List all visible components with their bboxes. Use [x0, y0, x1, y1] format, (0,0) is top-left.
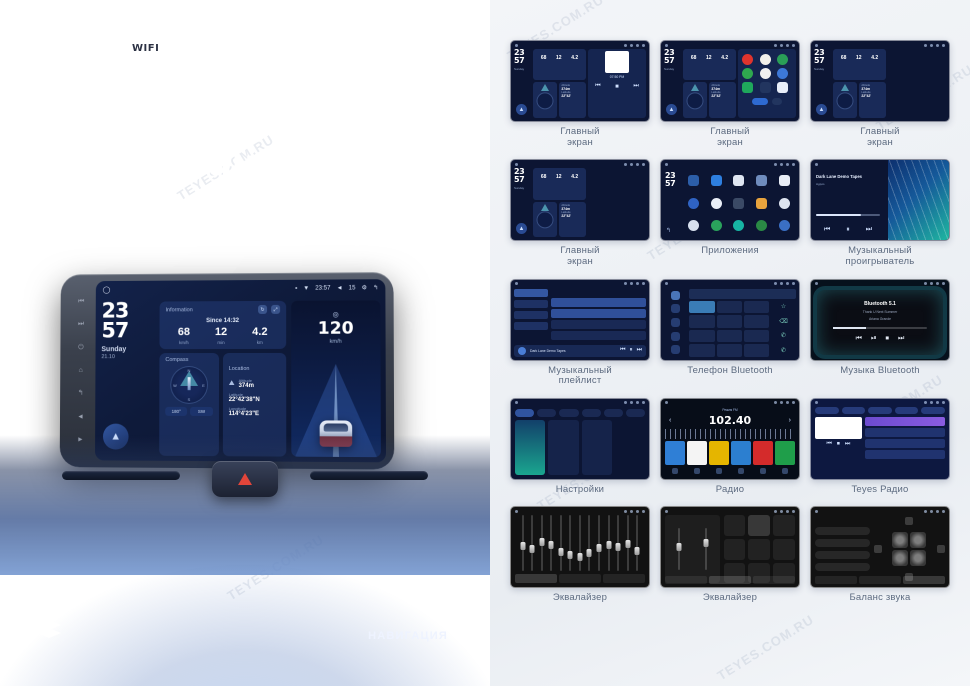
play-pause-icon[interactable]: ⏯: [871, 335, 877, 343]
headline: 2024 Презентация Нового Продукта!: [40, 88, 410, 227]
home-icon[interactable]: ⌂: [79, 367, 83, 374]
app-icon-all-apps: [777, 82, 788, 93]
prev-icon[interactable]: ⏮: [620, 347, 625, 354]
nav-shortcut-icon: ▲: [516, 104, 527, 115]
thumbnail-teyes-radio[interactable]: ⏮ ⏹ ⏭: [810, 398, 950, 480]
tab-reset[interactable]: [603, 574, 645, 583]
prev-icon[interactable]: ⏮: [826, 441, 831, 448]
app-icon-gallery: [779, 198, 790, 209]
gallery-caption: Эквалайзер: [703, 593, 757, 604]
tab-eq[interactable]: [515, 574, 557, 583]
app-icon-calculator: [756, 175, 767, 186]
bt-artist: Ariana Grande: [869, 317, 891, 321]
thumbnail-playlist[interactable]: Dark Lane Demo Tapes ⏮ ⏸ ⏭: [510, 279, 650, 361]
prev-icon[interactable]: ⏮: [824, 226, 830, 234]
gallery-item[interactable]: Эквалайзер: [660, 506, 800, 604]
compass-title: Compass: [165, 357, 212, 363]
dialpad-keys[interactable]: ☆ ⌫ ✆ ✆: [689, 301, 796, 357]
app-icon-maps: [777, 54, 788, 65]
gallery-item[interactable]: Dark Lane Demo Tapes Аудио ⏮ ⏸ ⏭ Музыкал…: [810, 159, 950, 267]
tab-eq[interactable]: [815, 576, 857, 584]
next-icon[interactable]: ⏭: [898, 335, 904, 343]
compass-n: N: [188, 368, 191, 373]
app-icon-avn: [688, 175, 699, 186]
station-list[interactable]: [865, 417, 945, 475]
eq-preset-buttons[interactable]: [724, 515, 795, 583]
brand-name: CC3L: [42, 34, 118, 63]
compass-dial: N E S W: [170, 366, 208, 404]
gallery-caption: Главный экран: [560, 246, 599, 267]
gallery-item[interactable]: Dark Lane Demo Tapes ⏮ ⏸ ⏭ Музыкальный п…: [510, 279, 650, 387]
thumbnail-bt-music[interactable]: Bluetooth 5.1 Thank U Next Summer Ariana…: [810, 279, 950, 361]
stat-value: 68: [178, 327, 190, 338]
layers-icon: [36, 619, 62, 644]
balance-right-button[interactable]: [937, 545, 945, 553]
gallery-item[interactable]: Режим FM ‹ 102.40 ›: [660, 398, 800, 496]
thumbnail-bt-phone[interactable]: ☆ ⌫ ✆ ✆: [660, 279, 800, 361]
bass-treble-faders[interactable]: [665, 515, 720, 583]
gallery-caption: Приложения: [701, 246, 759, 257]
hardware-buttons[interactable]: ⏮ ⏭ ⏻ ⌂ ↰ ◄ ►: [70, 290, 92, 451]
app-icon-maps: [711, 220, 722, 231]
stat-unit: km: [252, 340, 267, 345]
information-card[interactable]: Information ↻ ⤢ Since 14:32 68: [159, 301, 286, 349]
stat-value: 12: [215, 327, 227, 338]
preset-stations[interactable]: [665, 441, 795, 465]
back-arrow-icon[interactable]: ↰: [373, 284, 378, 291]
thumbnail-radio[interactable]: Режим FM ‹ 102.40 ›: [660, 398, 800, 480]
signal-icon: ▪: [295, 285, 297, 291]
progress-bar[interactable]: [833, 327, 926, 329]
watermark: TEYES.COM.RU: [714, 612, 816, 684]
tab-dsp[interactable]: [709, 576, 751, 584]
thumbnail-equalizer-presets[interactable]: [660, 506, 800, 588]
dialpad-icon[interactable]: [671, 291, 680, 300]
compass-direction: SW: [190, 407, 212, 416]
navigation-label: НАВИГАЦИЯ: [368, 630, 448, 642]
gallery-item[interactable]: Bluetooth 5.1 Thank U Next Summer Ariana…: [810, 279, 950, 387]
prev-track-icon[interactable]: ⏮: [78, 298, 84, 305]
clock-widget: 23 57 Sunday 21.10 ▲: [101, 302, 155, 456]
gallery-caption: Баланс звука: [850, 593, 911, 604]
pause-icon[interactable]: ⏸: [630, 347, 633, 354]
brand-badge-wifi: WIFI: [125, 41, 166, 56]
volume-down-icon[interactable]: ◄: [77, 413, 84, 420]
gallery-item[interactable]: Баланс звука: [810, 506, 950, 604]
tab-about[interactable]: [626, 409, 645, 417]
back-icon[interactable]: ↰: [666, 227, 671, 234]
tab-eq[interactable]: [665, 576, 707, 584]
gallery-caption: Настройки: [556, 485, 604, 496]
gallery-item[interactable]: 2357Sunday▲ 68124.2 Altitude374mLatitude…: [510, 159, 650, 267]
next-icon[interactable]: ⏭: [866, 226, 872, 234]
longitude-value: 114°4'23"E: [229, 411, 281, 417]
clock-day: Sunday: [101, 346, 154, 353]
prev-icon[interactable]: ⏮: [856, 335, 862, 343]
radio-band: Режим FM: [665, 408, 795, 412]
altitude-value: 374m: [239, 383, 254, 389]
thumbnail-settings[interactable]: [510, 398, 650, 480]
thumbnail-home-road-red[interactable]: 2357Sunday▲ 68124.2 Altitude374mLatitude…: [810, 40, 950, 122]
search-icon[interactable]: [671, 318, 680, 327]
compass-heading: 180°: [165, 407, 187, 416]
gallery-caption: Эквалайзер: [553, 593, 607, 604]
clock-date: 21.10: [101, 354, 154, 360]
compass-s: S: [188, 397, 191, 402]
tab-sound[interactable]: [537, 409, 556, 417]
balance-left-button[interactable]: [874, 545, 882, 553]
tab-balance[interactable]: [903, 576, 945, 584]
information-since: Since 14:32: [165, 318, 280, 324]
headline-year: 2024: [40, 88, 410, 143]
gallery-item[interactable]: ⏮ ⏹ ⏭ Teyes Радио: [810, 398, 950, 496]
thumbnail-music-player[interactable]: Dark Lane Demo Tapes Аудио ⏮ ⏸ ⏭: [810, 159, 950, 241]
wifi-card[interactable]: [515, 420, 545, 475]
headline-line2: Нового Продукта!: [40, 185, 410, 227]
app-icon-youtube: [742, 54, 753, 65]
stop-icon[interactable]: ⏹: [886, 335, 890, 343]
thumbnail-home-apps[interactable]: 2357Sunday▲ 68124.2 Altitude374mLatitude…: [660, 40, 800, 122]
app-icon-bluetooth-music: [733, 175, 744, 186]
air-vent-right: [310, 471, 428, 480]
app-icon-camera: [760, 68, 771, 79]
thumbnail-home-media[interactable]: 2357Sunday▲ 68124.2 Altitude374mLatitude…: [510, 40, 650, 122]
gallery-caption: Главный экран: [710, 127, 749, 148]
carplay-card[interactable]: [548, 420, 578, 475]
gallery-item[interactable]: ☆ ⌫ ✆ ✆ Телефон Bluetooth: [660, 279, 800, 387]
compass-w: W: [173, 383, 177, 388]
volume-icon: ◄: [337, 285, 343, 291]
progress-bar[interactable]: [816, 214, 880, 216]
presentation-page: TEYES.COM.RU TEYES.COM.RU TEYES.COM.RU C…: [0, 0, 970, 686]
next-station-icon[interactable]: ›: [789, 417, 791, 424]
status-time: 23:57: [315, 285, 330, 291]
headline-line1: Презентация: [40, 143, 410, 185]
gallery-caption: Главный экран: [860, 127, 899, 148]
compass-e: E: [202, 383, 205, 388]
gallery-caption: Музыка Bluetooth: [840, 366, 920, 377]
app-icon-music: [742, 68, 753, 79]
app-icon-clock: [711, 198, 722, 209]
information-stats: 68 km/h 12 min 4.2 km: [165, 327, 280, 345]
status-volume: 15: [349, 285, 356, 291]
app-icon-mail: [777, 68, 788, 79]
back-icon[interactable]: ↰: [78, 390, 84, 397]
expand-icon[interactable]: ⤢: [271, 305, 280, 314]
gallery-caption: Телефон Bluetooth: [687, 366, 773, 377]
gallery-grid: 2357Sunday▲ 68124.2 Altitude374mLatitude…: [510, 40, 950, 604]
app-icon-filemanager: [756, 198, 767, 209]
pause-icon[interactable]: ⏸: [846, 226, 850, 234]
tab-dsp[interactable]: [859, 576, 901, 584]
stop-icon[interactable]: ⏹: [837, 441, 840, 448]
tab-system[interactable]: [604, 409, 623, 417]
settings-icon[interactable]: [671, 345, 680, 354]
thumbnail-apps[interactable]: 2357: [660, 159, 800, 241]
gallery-item[interactable]: Эквалайзер: [510, 506, 650, 604]
gallery-item[interactable]: 2357Sunday▲ 68124.2 Altitude374mLatitude…: [510, 40, 650, 148]
tab-display[interactable]: [559, 409, 578, 417]
bt-track-title: Thank U Next Summer: [863, 310, 897, 314]
app-icon-chrome: [688, 198, 699, 209]
app-icon-dsp-equalizer: [733, 198, 744, 209]
information-title: Information: [166, 307, 193, 313]
location-title: Location: [229, 366, 250, 372]
thumbnail-sound-balance[interactable]: [810, 506, 950, 588]
clock-minutes: 57: [101, 321, 154, 341]
gallery-item[interactable]: Настройки: [510, 398, 650, 496]
mountain-icon: ⛰: [229, 380, 235, 388]
radio-frequency: 102.40: [709, 414, 751, 427]
app-icon-google: [688, 220, 699, 231]
app-icon-browser: [760, 54, 771, 65]
next-icon[interactable]: ⏭: [845, 441, 850, 448]
brand-logo: CC3L WIFI: [42, 34, 166, 63]
hazard-triangle-icon: [238, 473, 252, 485]
gallery-caption: Музыкальный плейлист: [548, 366, 612, 387]
hazard-light-button[interactable]: [212, 461, 278, 497]
stat-unit: min: [215, 340, 227, 345]
stat-unit: km/h: [178, 340, 190, 345]
speed-value: 120: [291, 318, 380, 338]
tab-car[interactable]: [582, 409, 601, 417]
album-art: [605, 51, 629, 73]
stat-value: 4.2: [252, 327, 267, 338]
frequency-scale[interactable]: [665, 429, 795, 439]
gallery-caption: Главный экран: [560, 127, 599, 148]
gallery-caption: Teyes Радио: [851, 485, 908, 496]
speed-road-widget[interactable]: ◎ 120 km/h: [291, 300, 381, 457]
latitude-value: 22°42'38"N: [229, 397, 281, 403]
speed-limit-icon: ◎: [333, 311, 339, 319]
power-icon[interactable]: ⏻: [78, 344, 83, 351]
hero-panel: TEYES.COM.RU TEYES.COM.RU TEYES.COM.RU C…: [0, 0, 490, 686]
gear-icon[interactable]: ⚙: [362, 284, 368, 291]
speaker-balance-pad[interactable]: [874, 515, 945, 583]
status-bar: ◯ ▪ ▼ 23:57 ◄ 15 ⚙ ↰: [96, 279, 386, 298]
call-log-icon[interactable]: [671, 332, 680, 341]
thumbnail-home-road[interactable]: 2357Sunday▲ 68124.2 Altitude374mLatitude…: [510, 159, 650, 241]
app-icon-radio: [779, 220, 790, 231]
next-icon[interactable]: ⏭: [637, 347, 642, 354]
prev-station-icon[interactable]: ‹: [669, 417, 671, 424]
widget-column: Information ↻ ⤢ Since 14:32 68: [159, 301, 286, 457]
air-vent-left: [62, 471, 180, 480]
compass-needle-icon: [187, 377, 190, 390]
gallery-item[interactable]: 2357Sunday▲ 68124.2 Altitude374mLatitude…: [810, 40, 950, 148]
media-widget: 07:50 PM ⏮■⏭: [588, 49, 646, 118]
home-circle-icon[interactable]: ◯: [103, 285, 111, 293]
visualizer-graphic: [888, 160, 949, 240]
dashboard-console: [0, 435, 490, 575]
bt-version-label: Bluetooth 5.1: [864, 301, 896, 307]
tab-reset[interactable]: [753, 576, 795, 584]
gallery-item[interactable]: 2357Sunday▲ 68124.2 Altitude374mLatitude…: [660, 40, 800, 148]
app-icon-play-store: [742, 82, 753, 93]
phone-number-field[interactable]: [689, 289, 796, 299]
eq-band-faders[interactable]: [515, 515, 645, 571]
album-art: [815, 417, 862, 439]
app-icon-play-store: [756, 220, 767, 231]
more-card[interactable]: [582, 420, 612, 475]
tab-wifi[interactable]: [515, 409, 534, 417]
next-track-icon[interactable]: ⏭: [78, 321, 84, 328]
refresh-icon[interactable]: ↻: [258, 305, 267, 314]
gallery-caption: Радио: [716, 485, 744, 496]
thumbnail-equalizer[interactable]: [510, 506, 650, 588]
tab-dsp[interactable]: [559, 574, 601, 583]
speed-unit: km/h: [291, 339, 380, 345]
app-icon-bluetooth: [711, 175, 722, 186]
balance-options[interactable]: [815, 515, 870, 583]
gallery-caption: Музыкальный проигрыватель: [846, 246, 915, 267]
wifi-icon: ▼: [303, 285, 309, 291]
balance-up-button[interactable]: [905, 517, 913, 525]
app-icon-settings: [760, 82, 771, 93]
now-playing-title: Dark Lane Demo Tapes: [816, 174, 883, 179]
screenshot-gallery: TEYES.COM.RU TEYES.COM.RU TEYES.COM.RU T…: [490, 0, 970, 686]
app-icon-music-player: [733, 220, 744, 231]
contacts-icon[interactable]: [671, 304, 680, 313]
gallery-item[interactable]: 2357: [660, 159, 800, 267]
app-icon-camera: [779, 175, 790, 186]
head-unit-photo: ⏮ ⏭ ⏻ ⌂ ↰ ◄ ► ◯ ▪ ▼ 23:57 ◄: [0, 255, 490, 575]
